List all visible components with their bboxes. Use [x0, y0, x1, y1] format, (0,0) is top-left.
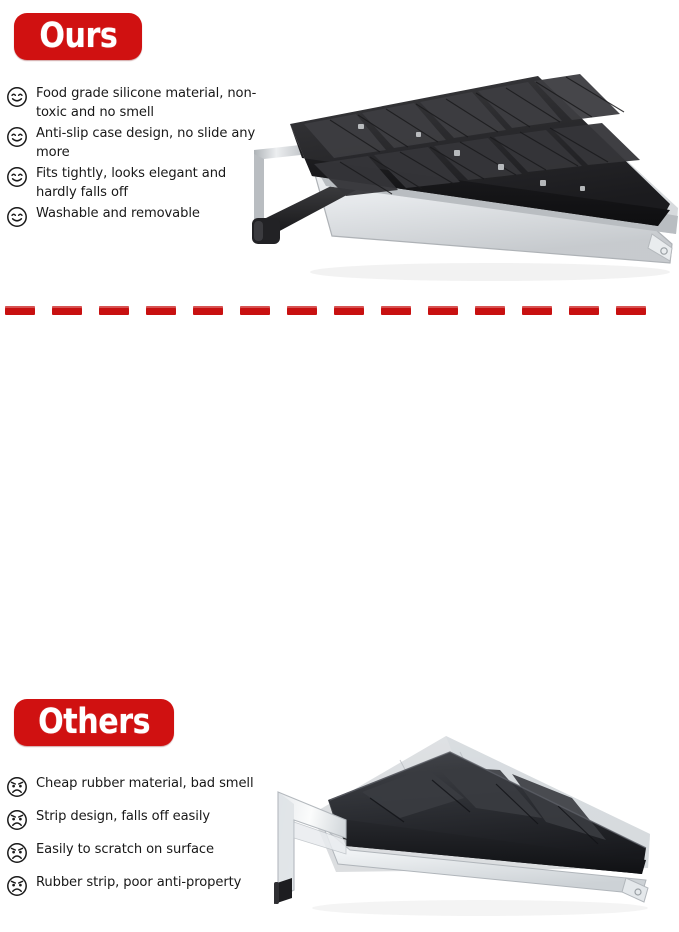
feature-label: Cheap rubber material, bad smell	[36, 774, 254, 793]
divider-dash	[287, 306, 317, 315]
divider-dash	[334, 306, 364, 315]
divider-dash	[616, 306, 646, 315]
list-item: Anti-slip case design, no slide any more	[6, 124, 268, 162]
feature-label: Fits tightly, looks elegant and hardly f…	[36, 164, 261, 202]
section-ours: Ours Food grade silicone material, non-t…	[0, 0, 679, 300]
list-item: Washable and removable	[6, 204, 268, 228]
feature-list-others: Cheap rubber material, bad smell Strip d…	[6, 774, 288, 906]
feature-label: Anti-slip case design, no slide any more	[36, 124, 261, 162]
divider-dash	[5, 306, 35, 315]
sad-face-icon	[6, 842, 28, 864]
badge-others-label: Others	[38, 705, 150, 740]
divider-dash	[240, 306, 270, 315]
divider-dash	[146, 306, 176, 315]
section-others: Others Cheap rubber material, bad smell	[0, 330, 679, 602]
list-item: Strip design, falls off easily	[6, 807, 288, 831]
list-item: Food grade silicone material, non-toxic …	[6, 84, 268, 122]
badge-ours-label: Ours	[39, 19, 117, 54]
divider-dash	[522, 306, 552, 315]
sad-face-icon	[6, 809, 28, 831]
happy-face-icon	[6, 166, 28, 188]
sad-face-icon	[6, 776, 28, 798]
list-item: Easily to scratch on surface	[6, 840, 288, 864]
red-dashed-divider	[0, 306, 679, 316]
feature-label: Rubber strip, poor anti-property	[36, 873, 241, 892]
badge-ours: Ours	[14, 13, 142, 60]
divider-dash	[52, 306, 82, 315]
happy-face-icon	[6, 86, 28, 108]
feature-label: Food grade silicone material, non-toxic …	[36, 84, 261, 122]
list-item: Fits tightly, looks elegant and hardly f…	[6, 164, 268, 202]
happy-face-icon	[6, 126, 28, 148]
feature-list-ours: Food grade silicone material, non-toxic …	[6, 84, 268, 230]
badge-others: Others	[14, 699, 174, 746]
feature-label: Easily to scratch on surface	[36, 840, 214, 859]
happy-face-icon	[6, 206, 28, 228]
divider-dash	[99, 306, 129, 315]
list-item: Rubber strip, poor anti-property	[6, 873, 288, 897]
divider-dash	[475, 306, 505, 315]
divider-dash	[428, 306, 458, 315]
sad-face-icon	[6, 875, 28, 897]
product-photo-others	[250, 722, 679, 932]
divider-dash	[193, 306, 223, 315]
divider-dash	[381, 306, 411, 315]
divider-dash	[569, 306, 599, 315]
product-photo-ours	[240, 58, 679, 290]
feature-label: Strip design, falls off easily	[36, 807, 210, 826]
list-item: Cheap rubber material, bad smell	[6, 774, 288, 798]
feature-label: Washable and removable	[36, 204, 200, 223]
